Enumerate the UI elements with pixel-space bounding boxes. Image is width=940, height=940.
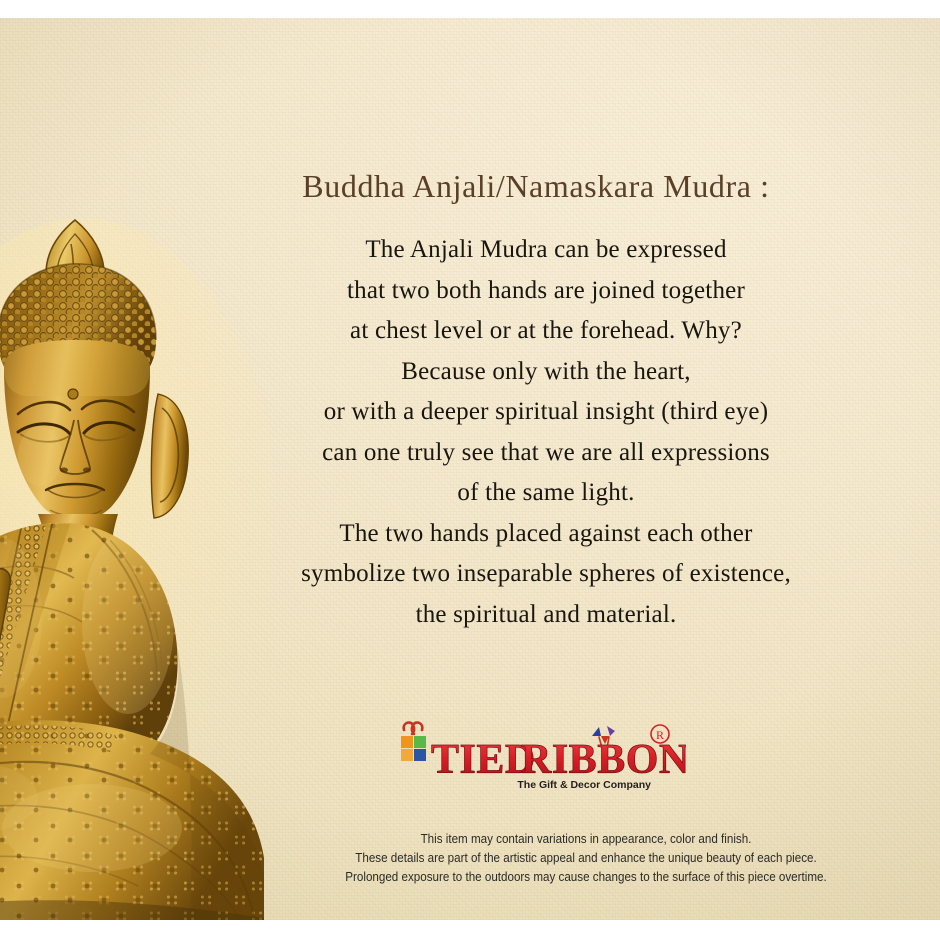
description-paragraph: The Anjali Mudra can be expressed that t… (236, 230, 856, 635)
logo-word-tied: TIED (431, 737, 536, 783)
disclaimer-text: This item may contain variations in appe… (279, 830, 893, 887)
description-line: of the same light. (236, 473, 856, 514)
tied-ribbons-logo: R TIED RIBBONS The Gift & Decor Company (396, 718, 686, 798)
golden-buddha-statue (0, 218, 272, 920)
gift-box-icon (401, 723, 426, 761)
description-line: The Anjali Mudra can be expressed (236, 230, 856, 271)
product-info-card: Buddha Anjali/Namaskara Mudra : The Anja… (0, 0, 940, 940)
disclaimer-line: These details are part of the artistic a… (279, 849, 893, 868)
logo-tagline: The Gift & Decor Company (517, 779, 651, 791)
description-line: can one truly see that we are all expres… (236, 433, 856, 474)
description-line: The two hands placed against each other (236, 514, 856, 555)
disclaimer-line: This item may contain variations in appe… (279, 830, 893, 849)
description-line: that two both hands are joined together (236, 271, 856, 312)
cream-background-panel: Buddha Anjali/Namaskara Mudra : The Anja… (0, 18, 940, 920)
logo-word-ribbons: RIBBONS (521, 737, 686, 783)
description-line: or with a deeper spiritual insight (thir… (236, 392, 856, 433)
page-title: Buddha Anjali/Namaskara Mudra : (236, 168, 836, 205)
description-line: Because only with the heart, (236, 352, 856, 393)
description-line: at chest level or at the forehead. Why? (236, 311, 856, 352)
disclaimer-line: Prolonged exposure to the outdoors may c… (279, 868, 893, 887)
description-line: the spiritual and material. (236, 595, 856, 636)
text-content-area: Buddha Anjali/Namaskara Mudra : The Anja… (236, 18, 940, 920)
description-line: symbolize two inseparable spheres of exi… (236, 554, 856, 595)
